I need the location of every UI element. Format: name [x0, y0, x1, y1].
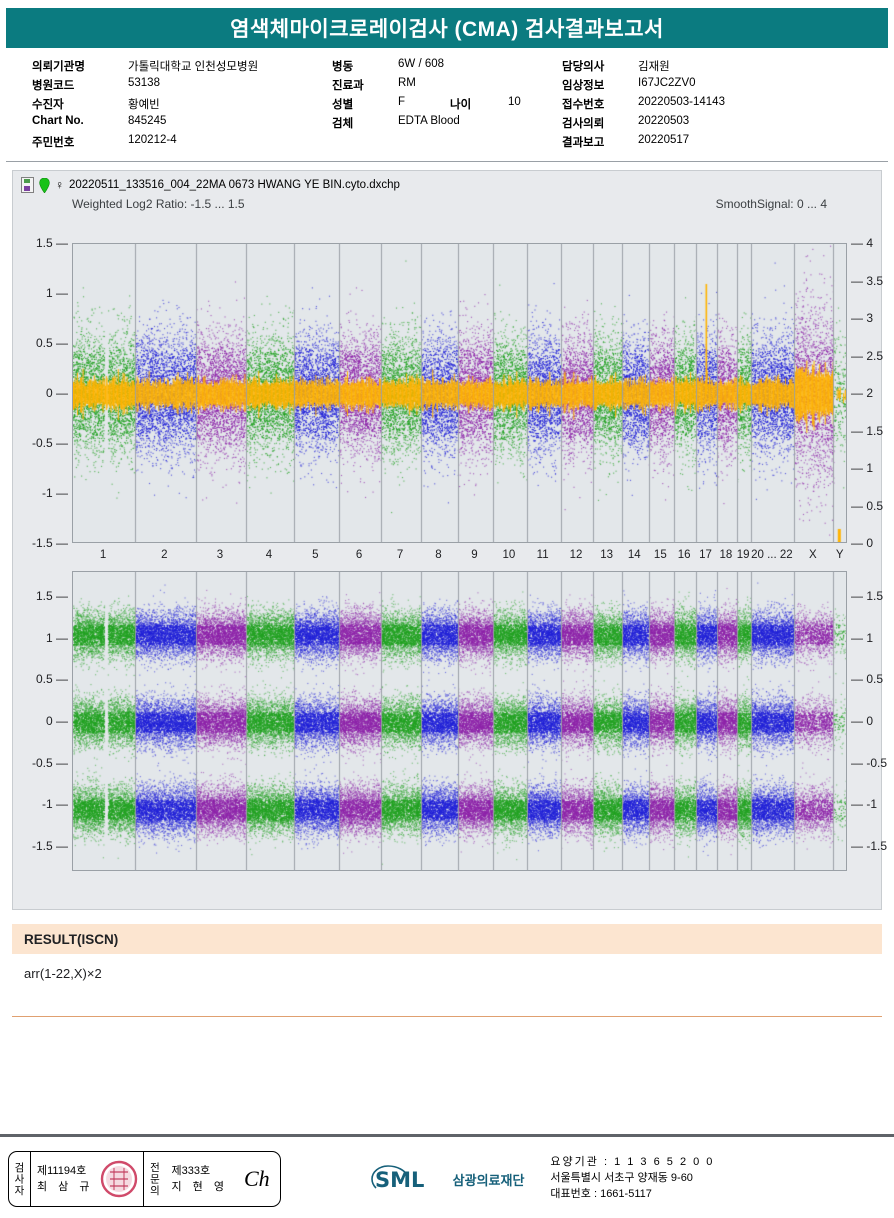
info-row: 진료과 RM: [332, 77, 562, 96]
allele-ytick-left: -1 —: [42, 797, 68, 811]
log2-ratio-plot: [72, 243, 847, 543]
footer-divider: [0, 1134, 894, 1137]
info-value: 845245: [128, 115, 166, 127]
signature-stamp-box: 검사자 제11194호 최 삼 규 전문의 제333호 지 현 영 Ch: [8, 1151, 281, 1207]
info-value-age: 10: [494, 96, 521, 108]
info-row: 결과보고 20220517: [562, 134, 862, 153]
chromosome-label: 15: [648, 549, 673, 561]
red-seal-icon: [99, 1159, 139, 1199]
specialist-name: 지 현 영: [171, 1179, 227, 1196]
result-text: arr(1-22,X)×2: [12, 954, 882, 1017]
chart-panel: ♀ 20220511_133516_004_22MA 0673 HWANG YE…: [12, 170, 882, 910]
specialist-label: 전문의: [143, 1152, 165, 1206]
patient-info: 의뢰기관명 가톨릭대학교 인천성모병원 병원코드 53138 수진자 황예빈 C…: [6, 48, 888, 162]
chromosome-label: 3: [195, 549, 246, 561]
info-value: RM: [398, 77, 416, 89]
info-row: 병원코드 53138: [32, 77, 332, 96]
chromosome-label: 9: [457, 549, 492, 561]
info-label: 성별: [332, 96, 398, 112]
info-label: 결과보고: [562, 134, 638, 150]
examiner-info: 제11194호 최 삼 규: [31, 1152, 99, 1206]
info-value: 20220503-14143: [638, 96, 725, 108]
info-value: 120212-4: [128, 134, 177, 146]
specialist-info: 제333호 지 현 영: [165, 1152, 233, 1206]
info-label: 주민번호: [32, 134, 128, 150]
log2-ratio-canvas: [73, 244, 847, 543]
log2-ytick-left: -1 —: [42, 486, 68, 500]
report-footer: 검사자 제11194호 최 삼 규 전문의 제333호 지 현 영 Ch SML…: [0, 1140, 894, 1218]
allele-ytick-right: — -1: [851, 797, 877, 811]
log2-ytick-left: 1 —: [46, 286, 68, 300]
specialist-signature: Ch: [234, 1166, 280, 1192]
info-label: 수진자: [32, 96, 128, 112]
allele-ytick-left: 0.5 —: [36, 672, 68, 686]
patient-info-column-3: 담당의사 김재원 임상정보 I67JC2ZV0 접수번호 20220503-14…: [562, 58, 862, 153]
smoothsignal-ytick-right: — 3.5: [851, 274, 883, 288]
chip-icon: [21, 177, 34, 193]
info-value: 가톨릭대학교 인천성모병원: [128, 58, 258, 74]
chromosome-label: 13: [592, 549, 620, 561]
info-value: 53138: [128, 77, 160, 89]
info-label: 접수번호: [562, 96, 638, 112]
allele-ytick-left: -1.5 —: [32, 839, 68, 853]
chromosome-label: 14: [621, 549, 648, 561]
info-label: 검사의뢰: [562, 115, 638, 131]
log2-ytick-left: -0.5 —: [32, 436, 68, 450]
chromosome-label: 4: [245, 549, 293, 561]
info-row: 담당의사 김재원: [562, 58, 862, 77]
log2-ratio-title: Weighted Log2 Ratio: -1.5 ... 1.5: [72, 197, 245, 211]
info-row: 임상정보 I67JC2ZV0: [562, 77, 862, 96]
allele-peaks-canvas: [73, 572, 847, 871]
info-row: 접수번호 20220503-14143: [562, 96, 862, 115]
info-value: 20220503: [638, 115, 689, 127]
info-row: 검사의뢰 20220503: [562, 115, 862, 134]
allele-peaks-plot: [72, 571, 847, 871]
smoothsignal-ytick-right: — 1.5: [851, 424, 883, 438]
examiner-label: 검사자: [9, 1152, 31, 1206]
patient-info-column-1: 의뢰기관명 가톨릭대학교 인천성모병원 병원코드 53138 수진자 황예빈 C…: [6, 58, 332, 153]
chromosome-label: X: [793, 549, 832, 561]
chromosome-label: 1: [72, 549, 134, 561]
chromosome-label: 17: [695, 549, 716, 561]
info-label: 임상정보: [562, 77, 638, 93]
svg-text:SML: SML: [375, 1168, 424, 1192]
info-label: 병원코드: [32, 77, 128, 93]
lab-branding: SML 삼광의료재단 요양기관 : 1 1 3 6 5 2 0 0 서울특별시 …: [371, 1155, 715, 1203]
chromosome-label: 6: [338, 549, 380, 561]
allele-ytick-right: — -1.5: [851, 839, 887, 853]
allele-ytick-left: 1 —: [46, 631, 68, 645]
report-title-bar: 염색체마이크로레이검사 (CMA) 검사결과보고서: [6, 8, 888, 48]
smoothsignal-ytick-right: — 0: [851, 536, 873, 550]
info-value: F: [398, 96, 450, 108]
chromosome-label: Y: [832, 549, 847, 561]
chromosome-label: 5: [293, 549, 338, 561]
chromosome-label: 2: [134, 549, 195, 561]
info-row: 의뢰기관명 가톨릭대학교 인천성모병원: [32, 58, 332, 77]
info-row: 수진자 황예빈: [32, 96, 332, 115]
chart-file-row: ♀ 20220511_133516_004_22MA 0673 HWANG YE…: [13, 171, 881, 193]
examiner-license: 제11194호: [37, 1163, 93, 1180]
allele-ytick-left: 1.5 —: [36, 589, 68, 603]
lab-name: 삼광의료재단: [453, 1170, 525, 1189]
female-sex-icon: ♀: [55, 179, 64, 191]
smoothsignal-title: SmoothSignal: 0 ... 4: [716, 197, 827, 211]
smoothsignal-ytick-right: — 0.5: [851, 499, 883, 513]
allele-ytick-right: — 0.5: [851, 672, 883, 686]
info-label: 검체: [332, 115, 398, 131]
info-label: Chart No.: [32, 115, 128, 127]
allele-ytick-left: 0 —: [46, 714, 68, 728]
info-row: 주민번호 120212-4: [32, 134, 332, 153]
allele-ytick-right: — 1.5: [851, 589, 883, 603]
examiner-name: 최 삼 규: [37, 1179, 93, 1196]
info-value: I67JC2ZV0: [638, 77, 696, 89]
info-row: Chart No. 845245: [32, 115, 332, 134]
pin-icon: [39, 178, 50, 193]
chromosome-label: 16: [673, 549, 695, 561]
chromosome-label: 7: [380, 549, 420, 561]
info-label: 담당의사: [562, 58, 638, 74]
smoothsignal-ytick-right: — 4: [851, 236, 873, 250]
info-value: 황예빈: [128, 96, 160, 112]
lab-institution-code: 요양기관 : 1 1 3 6 5 2 0 0: [550, 1155, 714, 1171]
log2-ytick-left: 0.5 —: [36, 336, 68, 350]
chromosome-label: 10: [492, 549, 526, 561]
smoothsignal-ytick-right: — 1: [851, 461, 873, 475]
info-label-age: 나이: [450, 96, 494, 112]
info-row: 검체 EDTA Blood: [332, 115, 562, 134]
lab-phone: 대표번호 : 1661-5117: [550, 1187, 714, 1203]
log2-ytick-left: 0 —: [46, 386, 68, 400]
chromosome-label: 12: [560, 549, 593, 561]
result-header: RESULT(ISCN): [12, 924, 882, 954]
log2-ytick-left: -1.5 —: [32, 536, 68, 550]
sml-logo-icon: SML: [371, 1162, 445, 1196]
allele-ytick-right: — 1: [851, 631, 873, 645]
info-value: 6W / 608: [398, 58, 444, 70]
info-row: 병동 6W / 608: [332, 58, 562, 77]
smoothsignal-ytick-right: — 3: [851, 311, 873, 325]
info-row-sex-age: 성별 F 나이 10: [332, 96, 562, 115]
lab-street-address: 서울특별시 서초구 양재동 9-60: [550, 1171, 714, 1187]
info-label: 진료과: [332, 77, 398, 93]
chromosome-label: 18: [716, 549, 736, 561]
chart-file-name: 20220511_133516_004_22MA 0673 HWANG YE B…: [69, 179, 400, 191]
allele-ytick-right: — -0.5: [851, 756, 887, 770]
allele-ytick-left: -0.5 —: [32, 756, 68, 770]
page-title: 염색체마이크로레이검사 (CMA) 검사결과보고서: [230, 13, 664, 43]
log2-ytick-left: 1.5 —: [36, 236, 68, 250]
chromosome-label: 11: [526, 549, 560, 561]
specialist-license: 제333호: [171, 1163, 227, 1180]
info-label: 병동: [332, 58, 398, 74]
info-value: 20220517: [638, 134, 689, 146]
info-label: 의뢰기관명: [32, 58, 128, 74]
info-value: 김재원: [638, 58, 670, 74]
lab-address: 요양기관 : 1 1 3 6 5 2 0 0 서울특별시 서초구 양재동 9-6…: [550, 1155, 714, 1203]
info-value: EDTA Blood: [398, 115, 460, 127]
chromosome-label: 8: [420, 549, 457, 561]
smoothsignal-ytick-right: — 2.5: [851, 349, 883, 363]
smoothsignal-ytick-right: — 2: [851, 386, 873, 400]
patient-info-column-2: 병동 6W / 608 진료과 RM 성별 F 나이 10 검체 EDTA Bl…: [332, 58, 562, 153]
allele-ytick-right: — 0: [851, 714, 873, 728]
